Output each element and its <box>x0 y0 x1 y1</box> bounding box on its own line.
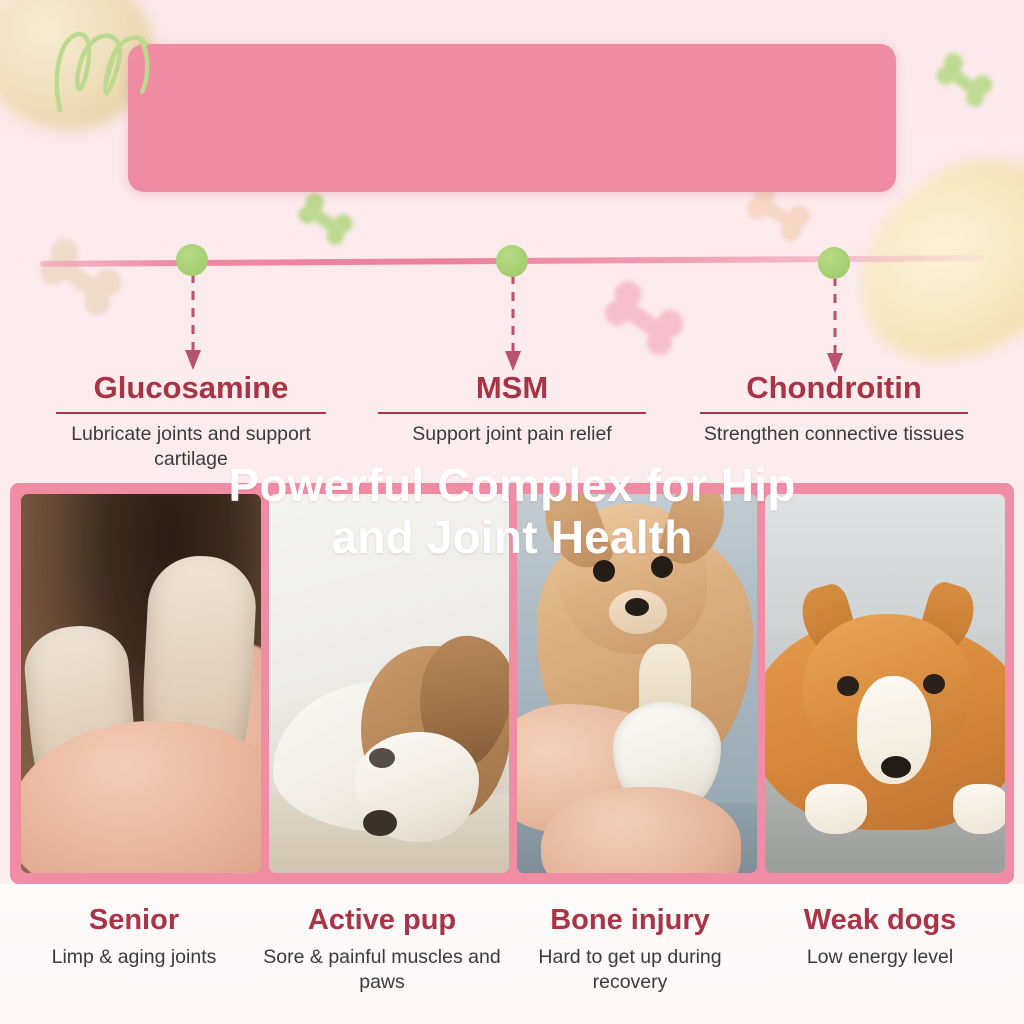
page-title-line1: Powerful Complex for Hip <box>228 460 795 512</box>
page-title: Powerful Complex for Hip and Joint Healt… <box>0 0 1024 1024</box>
page-title-line2: and Joint Health <box>331 512 692 564</box>
infographic-canvas: Powerful Complex for Hip and Joint Healt… <box>0 0 1024 1024</box>
